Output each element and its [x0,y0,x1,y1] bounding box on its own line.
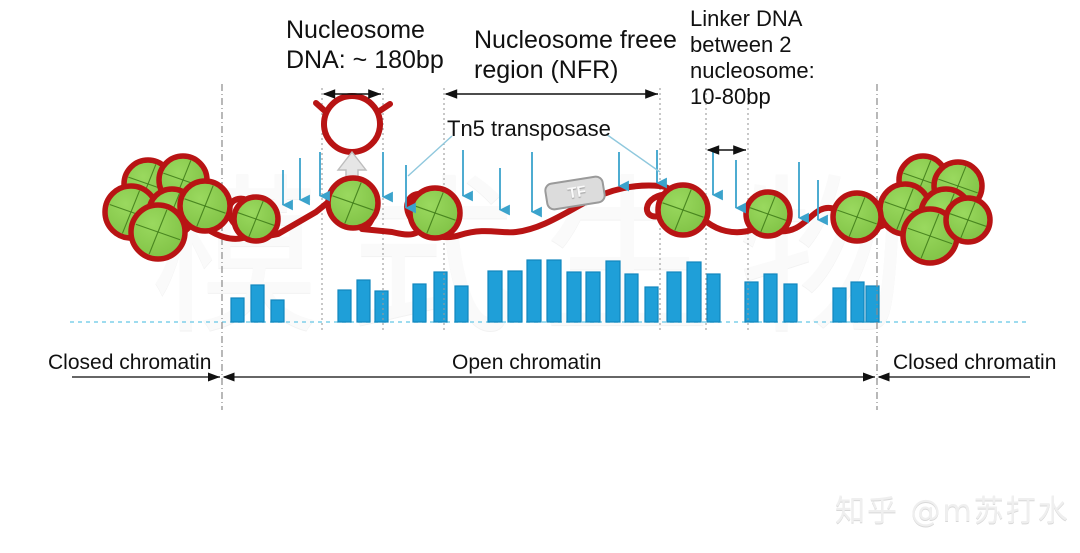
signal-bar [667,272,681,322]
signal-bar [625,274,638,322]
signal-bar [375,291,388,322]
nucleosome [833,193,881,241]
diagram-canvas: 模式生物 [0,0,1080,553]
nucleosome [234,197,278,241]
signal-bar [271,300,284,322]
label-tn5-transposase: Tn5 transposase [447,116,611,142]
nucleosome-group [105,156,990,263]
signal-bar [434,272,447,322]
nucleosome [328,178,378,228]
nucleosome [180,181,230,231]
signal-bar [547,260,561,322]
signal-bar [707,274,720,322]
signal-bar [455,286,468,322]
nucleosome [658,185,708,235]
signal-bar [586,272,600,322]
signal-bar [413,284,426,322]
signal-bar [567,272,581,322]
signal-bar [606,261,620,322]
signal-bar [527,260,541,322]
signal-bar [745,282,758,322]
nucleosome [946,198,990,242]
nucleosome [131,205,185,259]
signal-bar [851,282,864,322]
signal-bar [833,288,846,322]
signal-bar [251,285,264,322]
nucleosome [746,192,790,236]
label-closed-chromatin-right: Closed chromatin [893,351,1056,376]
label-nucleosome-dna: Nucleosome DNA: ~ 180bp [286,16,444,75]
atac-signal-bars [231,260,879,322]
signal-bar [338,290,351,322]
signal-bar [488,271,502,322]
signal-bar [231,298,244,322]
signal-bar [784,284,797,322]
nucleosome [410,188,460,238]
label-linker-dna: Linker DNA between 2 nucleosome: 10-80bp [690,6,815,110]
signal-bar [764,274,777,322]
signal-bar [357,280,370,322]
label-closed-chromatin-left: Closed chromatin [48,351,211,376]
signal-bar [508,271,522,322]
label-open-chromatin: Open chromatin [452,351,601,376]
zhihu-watermark: 知乎 @m苏打水 [835,486,1070,530]
nucleosome-dna-loop [316,96,390,152]
signal-bar [645,287,658,322]
label-nfr: Nucleosome freee region (NFR) [474,26,677,85]
signal-bar [687,262,701,322]
